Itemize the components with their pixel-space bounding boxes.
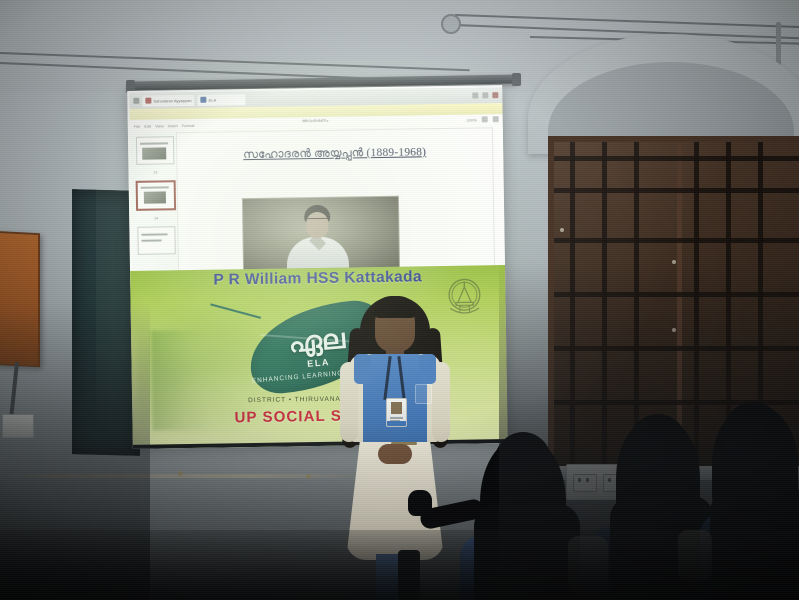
tabbar-spacer: [249, 96, 470, 99]
presenter-hands: [378, 444, 412, 464]
slide-number: 23: [154, 171, 158, 175]
presenter-pocket: [415, 384, 432, 404]
id-badge-line: [390, 417, 403, 419]
roller-end-cap: [512, 73, 521, 86]
tab-favicon-icon: [145, 98, 151, 104]
browser-tab[interactable]: ELA: [197, 94, 245, 106]
id-badge-photo: [391, 402, 402, 414]
tab-favicon-icon: [200, 97, 206, 103]
classroom-photo: Sahodaran Ayyappan ELA File Edit View: [0, 0, 799, 600]
fullscreen-icon[interactable]: [493, 116, 499, 122]
zoom-control[interactable]: 100%: [466, 116, 498, 123]
thumb-text-line: [142, 239, 162, 241]
slide-thumbnail[interactable]: [137, 226, 175, 255]
thumb-text-line: [140, 142, 168, 144]
slide-thumbnail[interactable]: [136, 136, 174, 165]
presenter-pinafore-strap-left: [354, 354, 371, 384]
presenter-id-badge: [386, 398, 407, 427]
floor-shadow: [0, 530, 799, 600]
presenter-pinafore-strap-right: [419, 354, 436, 384]
thumb-text-line: [141, 233, 167, 235]
id-badge-footer: [387, 421, 406, 426]
browser-menu-icon[interactable]: [133, 98, 139, 104]
maximize-icon[interactable]: [482, 92, 488, 98]
slide-title: സഹോദരൻ അയ്യപ്പൻ (1889-1968): [177, 145, 492, 163]
thumb-image: [144, 191, 166, 203]
slide-portrait-photo: [242, 196, 400, 270]
portrait-spectacles: [308, 217, 328, 223]
portrait-face: [307, 212, 329, 238]
silhouette-hand: [408, 490, 432, 516]
slide-canvas: സഹോദരൻ അയ്യപ്പൻ (1889-1968) 1.: [176, 127, 495, 286]
conduit-junction-box: [441, 14, 461, 34]
dado-nail: [306, 474, 311, 479]
minimize-icon[interactable]: [472, 92, 478, 98]
dado-nail: [178, 471, 183, 476]
projected-browser-window: Sahodaran Ayyappan ELA File Edit View: [127, 85, 505, 287]
browser-tab-label: ELA: [209, 97, 217, 102]
zoom-level-label: 100%: [466, 117, 476, 122]
thumb-text-line: [141, 186, 169, 188]
thumb-image: [142, 147, 166, 159]
slide-thumbnail-selected[interactable]: [136, 180, 176, 211]
slide-number: 24: [154, 216, 158, 220]
browser-tab[interactable]: Sahodaran Ayyappan: [142, 94, 194, 106]
browser-window-controls[interactable]: [472, 92, 498, 98]
browser-tab-label: Sahodaran Ayyappan: [153, 97, 191, 103]
presenter-hair-top: [374, 296, 416, 318]
close-icon[interactable]: [492, 92, 498, 98]
fit-page-icon[interactable]: [482, 116, 488, 122]
